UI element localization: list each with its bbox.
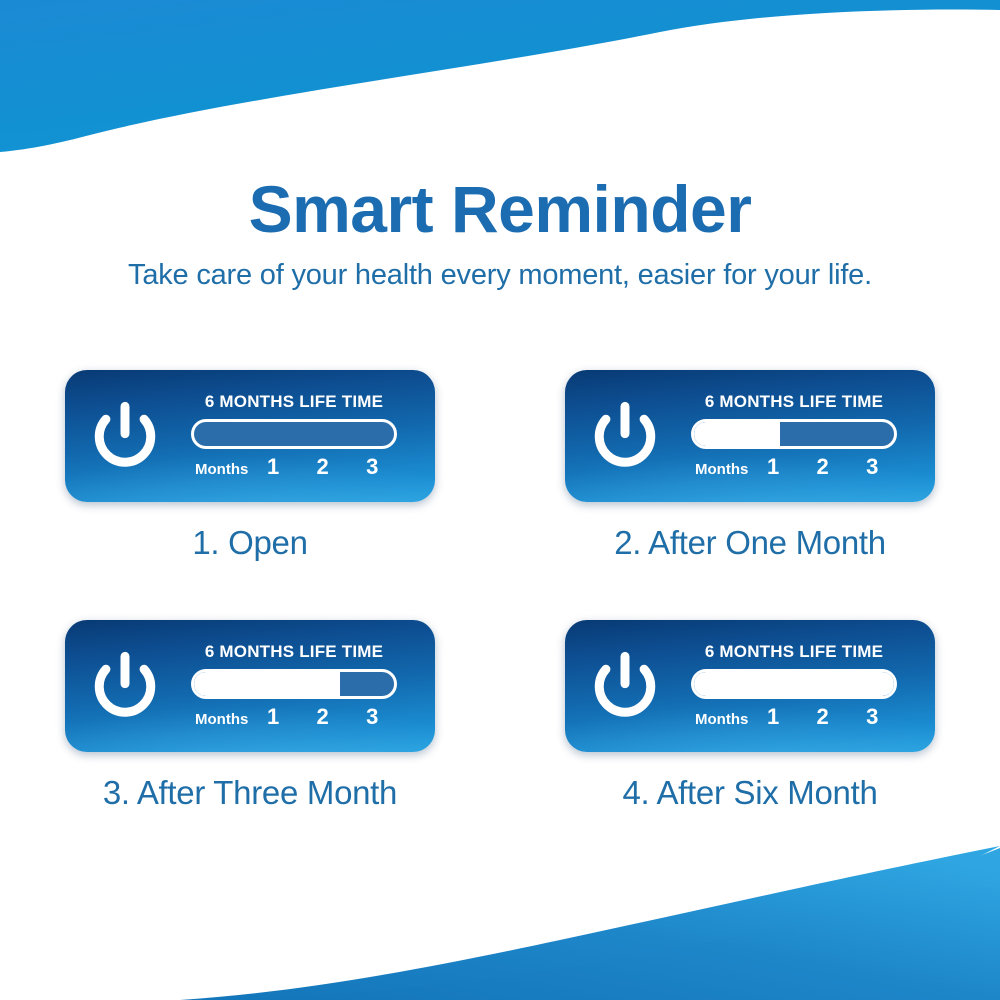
month-ticks-4: Months 1 2 3 [691, 704, 897, 730]
power-icon [586, 397, 664, 475]
device-label-1: 6 MONTHS LIFE TIME Months 1 2 3 [65, 370, 435, 502]
months-label: Months [195, 711, 248, 728]
month-tick-1: 1 [748, 454, 798, 480]
months-label: Months [195, 461, 248, 478]
life-time-label: 6 MONTHS LIFE TIME [205, 392, 383, 412]
month-tick-2: 2 [798, 454, 848, 480]
life-time-label: 6 MONTHS LIFE TIME [205, 642, 383, 662]
life-progress-fill-2 [694, 422, 780, 446]
steps-grid: 6 MONTHS LIFE TIME Months 1 2 3 1. Open [0, 370, 1000, 870]
life-progress-fill-3 [194, 672, 340, 696]
bottom-wave-mass-shape [250, 848, 1000, 1000]
life-progress-bar-2 [691, 419, 897, 449]
power-icon-wrap-4 [565, 647, 685, 725]
life-progress-fill-4 [694, 672, 894, 696]
step-caption-3: 3. After Three Month [103, 774, 397, 812]
months-label: Months [695, 461, 748, 478]
life-progress-bar-3 [191, 669, 397, 699]
month-tick-2: 2 [298, 454, 348, 480]
page-title: Smart Reminder [0, 175, 1000, 244]
life-time-label: 6 MONTHS LIFE TIME [705, 392, 883, 412]
device-label-2: 6 MONTHS LIFE TIME Months 1 2 3 [565, 370, 935, 502]
month-tick-1: 1 [748, 704, 798, 730]
month-ticks-1: Months 1 2 3 [191, 454, 397, 480]
step-card-1: 6 MONTHS LIFE TIME Months 1 2 3 1. Open [0, 370, 500, 620]
poster-header: Smart Reminder Take care of your health … [0, 175, 1000, 293]
month-tick-1: 1 [248, 454, 298, 480]
power-icon-wrap-1 [65, 397, 185, 475]
month-ticks-2: Months 1 2 3 [691, 454, 897, 480]
device-label-3: 6 MONTHS LIFE TIME Months 1 2 3 [65, 620, 435, 752]
month-tick-2: 2 [298, 704, 348, 730]
power-icon [86, 397, 164, 475]
life-meter-1: 6 MONTHS LIFE TIME Months 1 2 3 [185, 392, 407, 480]
step-caption-2: 2. After One Month [614, 524, 886, 562]
power-icon-wrap-2 [565, 397, 685, 475]
month-tick-2: 2 [798, 704, 848, 730]
months-label: Months [695, 711, 748, 728]
power-icon [586, 647, 664, 725]
life-meter-4: 6 MONTHS LIFE TIME Months 1 2 3 [685, 642, 907, 730]
smart-reminder-poster: Smart Reminder Take care of your health … [0, 0, 1000, 1000]
life-time-label: 6 MONTHS LIFE TIME [705, 642, 883, 662]
power-icon [86, 647, 164, 725]
month-tick-1: 1 [248, 704, 298, 730]
month-tick-3: 3 [847, 704, 897, 730]
power-icon-wrap-3 [65, 647, 185, 725]
month-ticks-3: Months 1 2 3 [191, 704, 397, 730]
step-card-2: 6 MONTHS LIFE TIME Months 1 2 3 2. After… [500, 370, 1000, 620]
step-card-3: 6 MONTHS LIFE TIME Months 1 2 3 3. After… [0, 620, 500, 870]
life-meter-2: 6 MONTHS LIFE TIME Months 1 2 3 [685, 392, 907, 480]
life-progress-bar-1 [191, 419, 397, 449]
life-meter-3: 6 MONTHS LIFE TIME Months 1 2 3 [185, 642, 407, 730]
month-tick-3: 3 [347, 454, 397, 480]
top-wave-shape [0, 0, 1000, 152]
page-subtitle: Take care of your health every moment, e… [0, 258, 1000, 293]
life-progress-bar-4 [691, 669, 897, 699]
step-card-4: 6 MONTHS LIFE TIME Months 1 2 3 4. After… [500, 620, 1000, 870]
step-caption-4: 4. After Six Month [622, 774, 877, 812]
step-caption-1: 1. Open [192, 524, 307, 562]
bottom-wave-back-shape [300, 860, 1000, 1000]
month-tick-3: 3 [847, 454, 897, 480]
month-tick-3: 3 [347, 704, 397, 730]
device-label-4: 6 MONTHS LIFE TIME Months 1 2 3 [565, 620, 935, 752]
